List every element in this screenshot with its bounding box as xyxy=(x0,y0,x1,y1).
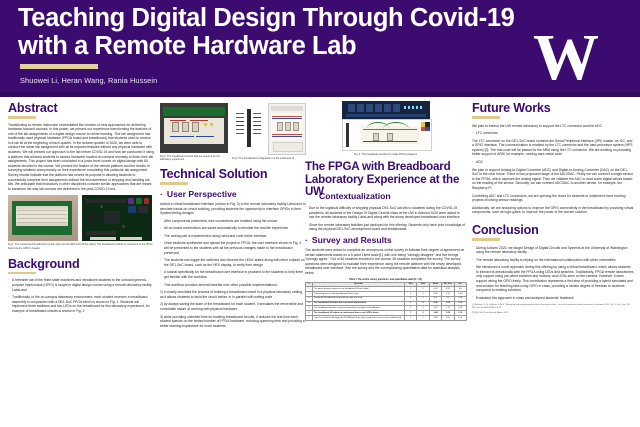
future-works-heading-rule xyxy=(472,116,500,119)
conclusion-heading: Conclusion xyxy=(472,223,634,237)
virtual-breadboard-render xyxy=(342,119,432,151)
breadboard-module-photo xyxy=(8,195,78,241)
abstract-heading-rule xyxy=(8,116,36,119)
background-bullet-1: A refresher lab of the finite-state mach… xyxy=(8,278,154,292)
color-swatch xyxy=(421,122,430,131)
cell-var: 1.10 xyxy=(454,315,466,320)
conclusion-bullet-2: The remote laboratory facility is relyin… xyxy=(472,258,634,263)
de1-soc-fpga-photo xyxy=(82,195,152,241)
figure-2-3-row: Fig 2: The breadboard circuits that are … xyxy=(160,103,306,161)
figure-4-caption: Fig. 4: The breadboard section for today… xyxy=(342,153,430,156)
survey-table-body: 1The pinout diagram shown on the breadbo… xyxy=(306,287,467,320)
figure-2-caption: Fig 2: The breadboard circuits that are … xyxy=(160,155,228,161)
future-works-item-0-label: LTC connector xyxy=(472,131,634,136)
technical-numbered-2: 2) by always saving the state of the bre… xyxy=(160,302,306,311)
cell-min: 1 xyxy=(405,315,417,320)
page-title: Teaching Digital Design Through Covid-19… xyxy=(18,4,518,60)
page-title-line2: with a Remote Hardware Lab xyxy=(18,32,518,60)
technical-bullet-2: All on-board connections are saved autom… xyxy=(160,226,306,231)
contextualization-bullet-2: Since the remote laboratory facilities j… xyxy=(305,223,466,232)
technical-bullet-5: The students can toggle the switches and… xyxy=(160,258,306,267)
survey-results-subheading: ·Survey and Results xyxy=(305,235,466,245)
future-works-heading: Future Works xyxy=(472,101,634,115)
reference-2: [2] DE1-SoC User Manual, Altera. 2016 xyxy=(472,312,634,315)
conclusion-bullet-4: Evaluated this approach in class and ana… xyxy=(472,296,634,301)
technical-bullet-7: This workflow provides several benefits … xyxy=(160,283,306,288)
survey-results-bullet-glyph: · xyxy=(305,235,308,245)
header-bottom-band xyxy=(0,92,640,97)
technical-bullet-4: Once students synthesize and upload the … xyxy=(160,241,306,255)
cell-mean: 3.38 xyxy=(429,315,441,320)
breadboard-pinout-diagram xyxy=(232,103,266,153)
background-heading-rule xyxy=(8,272,36,275)
cell-max: 5 xyxy=(417,315,429,320)
figure-4-block: Fig. 4: The breadboard section for today… xyxy=(342,101,430,156)
future-works-intro: We plan to extend the UW remote laborato… xyxy=(472,124,634,129)
page-title-line1: Teaching Digital Design Through Covid-19 xyxy=(18,4,518,32)
column-2: Fig 2: The breadboard circuits that are … xyxy=(160,101,306,331)
figure-2-block: Fig 2: The breadboard circuits that are … xyxy=(160,103,228,161)
conclusion-heading-rule xyxy=(472,238,500,241)
fpga-experience-heading-line1: The FPGA with Breadboard xyxy=(305,161,466,174)
background-heading: Background xyxy=(8,257,154,271)
column-3: Fig. 4: The breadboard section for today… xyxy=(305,101,466,321)
abstract-body: Transitioning to remote instruction nece… xyxy=(8,123,154,192)
technical-bullet-1: After components placement, wire connect… xyxy=(160,219,306,224)
breadboard-circuit-photo xyxy=(160,103,228,153)
technical-bullet-6: A tutorial specifically for the breadboa… xyxy=(160,270,306,279)
technical-numbered-1: 1) it closely emulates the process of bu… xyxy=(160,290,306,299)
user-perspective-bullet-glyph: · xyxy=(160,189,163,199)
survey-results-table: # Question Min Max Mean Std. Dev. Var. 1… xyxy=(305,282,467,321)
survey-results-subheading-label: Survey and Results xyxy=(312,235,392,245)
future-works-closing-2: Additionally, we are analyzing options t… xyxy=(472,206,634,215)
future-works-item-1-text: We plan to support Analog-to-Digital Con… xyxy=(472,168,634,191)
fpga-experience-heading-line2: Laboratory Experience at the xyxy=(305,174,466,187)
column-4: Future Works We plan to extend the UW re… xyxy=(472,101,634,317)
reference-1: [1] Sullivan, G. M., & Artino Jr, A. R. … xyxy=(472,304,634,310)
technical-solution-intro: Added a virtual breadboard interface (sh… xyxy=(160,202,306,216)
title-accent-rule xyxy=(20,64,98,69)
technical-solution-heading: Technical Solution xyxy=(160,167,306,181)
future-works-item-1-label: ADC xyxy=(472,160,634,165)
survey-body: The students were asked to complete an a… xyxy=(305,248,466,276)
future-works-closing-1: Combining ADC and LTC connectors, we are… xyxy=(472,194,634,203)
fpga-board-render xyxy=(342,101,430,119)
background-bullet-2: Traditionally, in the on-campus laborato… xyxy=(8,295,154,313)
future-works-item-0-text: The LTC connector on the DE1-SoC board c… xyxy=(472,139,634,157)
technical-numbered-3: 3) while providing unlimited time for bu… xyxy=(160,315,306,329)
cell-index: 7 xyxy=(306,315,313,320)
abstract-heading: Abstract xyxy=(8,101,154,115)
user-perspective-subheading: ·User Perspective xyxy=(160,189,306,199)
figure-1-caption: Fig 1: The customized breadboard module … xyxy=(8,243,154,249)
uw-w-logo: W xyxy=(533,28,598,88)
author-list: Shuowei Li, Heran Wang, Rania Hussein xyxy=(20,76,157,85)
contextualization-bullet-1: Due to the logistical difficulty of ship… xyxy=(305,206,466,220)
technical-solution-heading-rule xyxy=(160,182,188,185)
poster-header: Teaching Digital Design Through Covid-19… xyxy=(0,0,640,97)
contextualization-heading: Contextualization xyxy=(319,191,466,201)
cell-stddev: 1.05 xyxy=(442,315,454,320)
table-row: 7I was less afraid of damaging the FPGA … xyxy=(306,315,467,320)
figure-1-row xyxy=(8,195,154,241)
figure-3-caption: Fig 3: The breadboard configuration on t… xyxy=(232,157,306,160)
labsland-breadboard-ui-diagram xyxy=(268,103,306,155)
user-perspective-subheading-label: User Perspective xyxy=(167,189,237,199)
poster-root: Teaching Digital Design Through Covid-19… xyxy=(0,0,640,427)
column-1: Abstract Transitioning to remote instruc… xyxy=(8,101,154,316)
cell-question: I was less afraid of damaging the FPGA b… xyxy=(313,315,405,320)
survey-table-caption: Table 1 The online survey questions, and… xyxy=(305,279,466,281)
figure-3-block: Fig 3: The breadboard configuration on t… xyxy=(232,103,306,161)
conclusion-bullet-3: We introduced a novel approach during th… xyxy=(472,265,634,293)
technical-bullet-3: The coding part is implemented using Lab… xyxy=(160,234,306,239)
conclusion-bullet-1: During Autumn 2020, we taught Design of … xyxy=(472,246,634,255)
